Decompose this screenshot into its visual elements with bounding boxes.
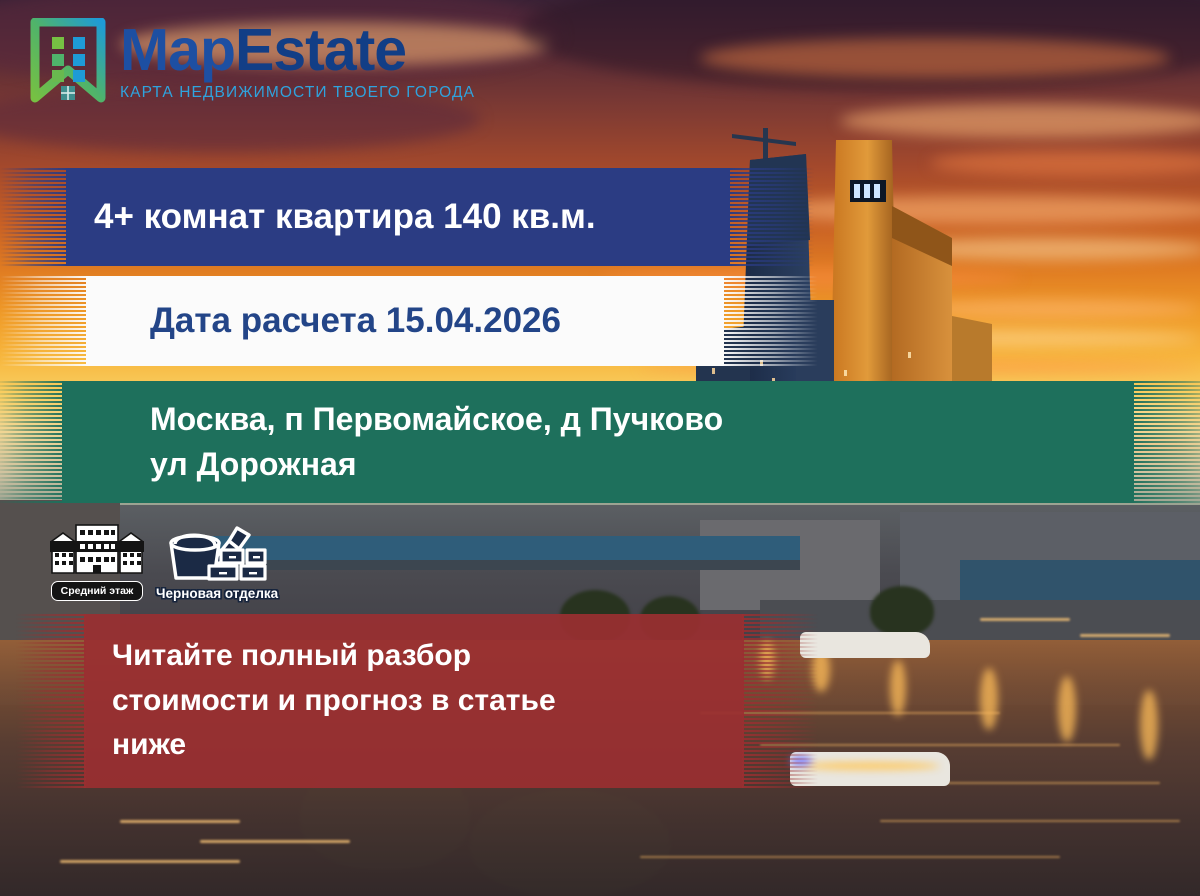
cta-line-2: стоимости и прогноз в статье — [112, 679, 744, 723]
river-boat — [800, 632, 930, 658]
banner-address: Москва, п Первомайское, д Пучково ул Дор… — [62, 381, 1134, 503]
car-light-trail — [60, 860, 240, 863]
feature-floor: Средний этаж — [48, 521, 146, 601]
apartment-building-icon — [48, 521, 146, 579]
brand-title: MapEstate — [120, 22, 475, 80]
brush-edge-right — [722, 276, 818, 366]
bookmark-building-icon — [28, 18, 108, 106]
banner-calculation-date: Дата расчета 15.04.2026 — [86, 276, 724, 366]
address-line-1: Москва, п Первомайское, д Пучково — [150, 397, 1134, 442]
brand-title-estate: Estate — [235, 17, 406, 83]
brand-tagline: КАРТА НЕДВИЖИМОСТИ ТВОЕГО ГОРОДА — [120, 84, 475, 102]
car-light-trail — [1080, 634, 1170, 637]
banner-cta: Читайте полный разбор стоимости и прогно… — [84, 614, 744, 788]
address-line-2: ул Дорожная — [150, 442, 1134, 487]
light-reflection — [1140, 690, 1158, 760]
car-light-trail — [200, 840, 350, 843]
brush-edge-left — [0, 168, 68, 266]
banner-rooms: 4+ комнат квартира 140 кв.м. — [66, 168, 730, 266]
boat-lights — [800, 762, 940, 770]
brush-edge-right — [742, 614, 818, 788]
brush-edge-left — [0, 381, 64, 503]
feature-icons: Средний этаж — [48, 521, 278, 601]
feature-finishing: Черновая отделка — [156, 526, 278, 601]
car-light-trail — [120, 820, 240, 823]
tree — [870, 586, 934, 636]
paint-bucket-trowel-bricks-icon — [165, 526, 269, 584]
cta-line-3: ниже — [112, 723, 744, 767]
water-ripple — [640, 856, 1060, 858]
water-ripple — [880, 820, 1180, 822]
light-reflection — [890, 660, 906, 716]
car-light-trail — [980, 618, 1070, 621]
banner-rooms-text: 4+ комнат квартира 140 кв.м. — [66, 197, 730, 237]
brand-wordmark: MapEstate КАРТА НЕДВИЖИМОСТИ ТВОЕГО ГОРО… — [120, 22, 475, 102]
cloud-streak — [700, 38, 1170, 78]
brush-edge-left — [0, 276, 88, 366]
brush-edge-left — [16, 614, 86, 788]
feature-floor-badge: Средний этаж — [51, 581, 144, 601]
light-reflection — [1058, 676, 1076, 742]
cta-line-1: Читайте полный разбор — [112, 634, 744, 678]
banner-date-text: Дата расчета 15.04.2026 — [86, 301, 724, 341]
feature-finishing-caption: Черновая отделка — [156, 586, 278, 601]
brand-title-map: Map — [120, 17, 235, 83]
brush-edge-right — [728, 168, 814, 266]
brush-edge-right — [1132, 381, 1200, 503]
brand-logo[interactable]: MapEstate КАРТА НЕДВИЖИМОСТИ ТВОЕГО ГОРО… — [28, 18, 475, 106]
light-reflection — [980, 668, 998, 730]
